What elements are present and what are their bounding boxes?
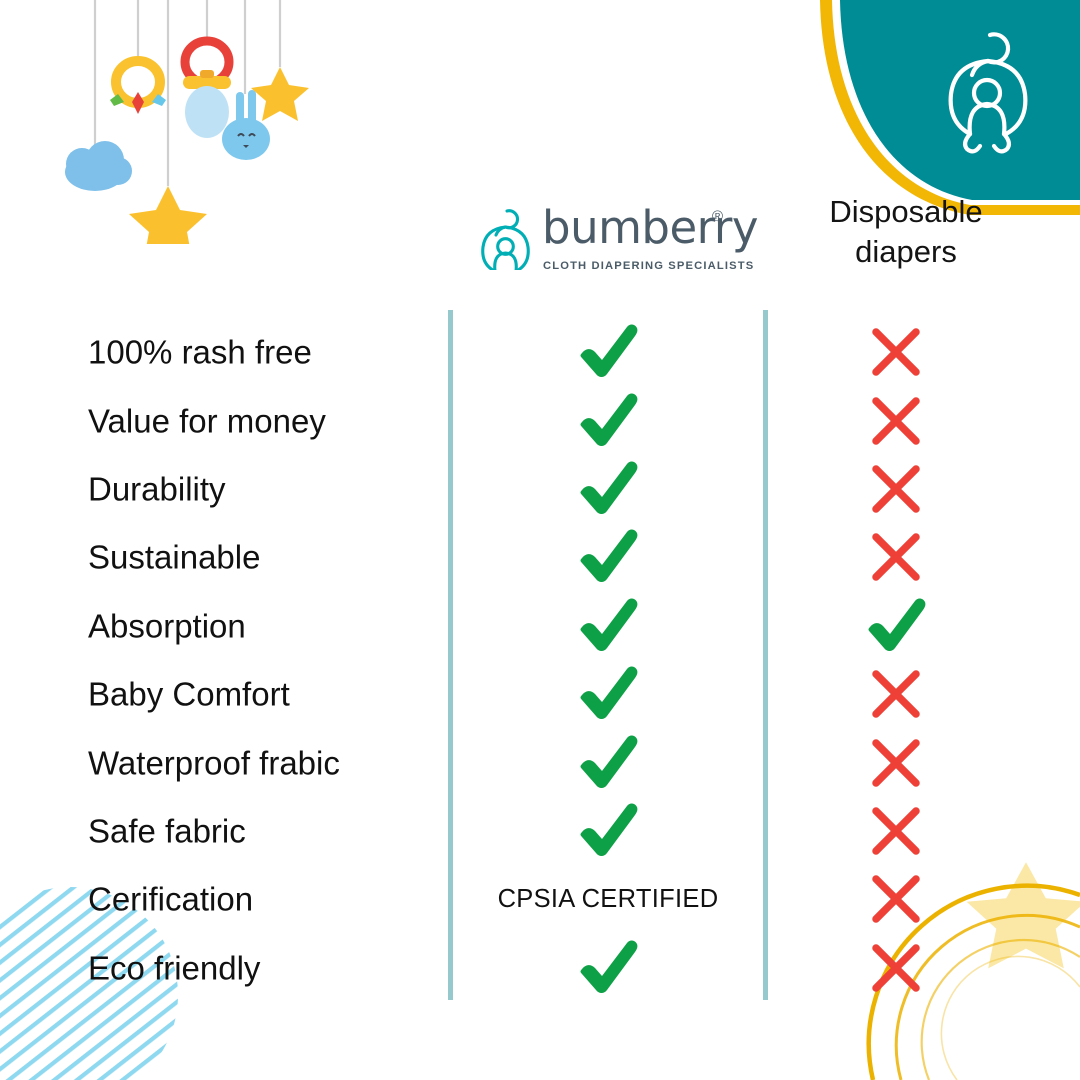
feature-label: Eco friendly — [88, 951, 260, 984]
table-row: Waterproof frabic — [0, 728, 1080, 796]
cross-icon — [768, 322, 1023, 382]
table-row: Eco friendly — [0, 934, 1080, 1002]
check-icon — [453, 938, 763, 998]
feature-label: Baby Comfort — [88, 678, 290, 711]
check-icon — [453, 459, 763, 519]
disposable-diapers-header: Disposable diapers — [790, 192, 1022, 271]
cross-icon — [768, 869, 1023, 929]
check-icon — [453, 322, 763, 382]
pacifier-icon — [183, 41, 231, 138]
check-icon — [768, 596, 1023, 656]
mother-and-baby-icon — [480, 208, 532, 275]
check-icon — [453, 527, 763, 587]
feature-label: Cerification — [88, 883, 253, 916]
cross-icon — [768, 938, 1023, 998]
table-row: Baby Comfort — [0, 660, 1080, 728]
brand-wordmark: bumberry — [542, 205, 758, 250]
cross-icon — [768, 801, 1023, 861]
cross-icon — [768, 733, 1023, 793]
column-headers: bumberry ® CLOTH DIAPERING SPECIALISTS D… — [0, 192, 1080, 302]
feature-label: 100% rash free — [88, 336, 312, 369]
disposable-header-line-1: Disposable — [790, 192, 1022, 232]
cross-icon — [768, 459, 1023, 519]
brand-tagline: CLOTH DIAPERING SPECIALISTS — [543, 260, 754, 272]
feature-label: Absorption — [88, 609, 246, 642]
feature-label: Durability — [88, 472, 226, 505]
rattle-ring-icon — [110, 61, 166, 114]
feature-label: Safe fabric — [88, 814, 246, 847]
table-row: Sustainable — [0, 523, 1080, 591]
bumberry-logo: bumberry ® CLOTH DIAPERING SPECIALISTS — [480, 200, 740, 284]
feature-label: Waterproof frabic — [88, 746, 340, 779]
bumberry-cell-text: CPSIA CERTIFIED — [453, 869, 763, 929]
teal-corner-badge — [820, 0, 1080, 215]
cloud-icon — [65, 141, 132, 191]
bunny-icon — [222, 90, 270, 160]
registered-trademark-symbol: ® — [712, 208, 723, 225]
comparison-infographic: bumberry ® CLOTH DIAPERING SPECIALISTS D… — [0, 0, 1080, 1080]
table-row: 100% rash free — [0, 318, 1080, 386]
table-row: Durability — [0, 455, 1080, 523]
disposable-header-line-2: diapers — [790, 232, 1022, 272]
check-icon — [453, 596, 763, 656]
feature-label: Sustainable — [88, 541, 260, 574]
check-icon — [453, 391, 763, 451]
feature-label: Value for money — [88, 404, 326, 437]
check-icon — [453, 733, 763, 793]
check-icon — [453, 801, 763, 861]
table-row: CerificationCPSIA CERTIFIED — [0, 865, 1080, 933]
cross-icon — [768, 391, 1023, 451]
table-row: Safe fabric — [0, 797, 1080, 865]
table-row: Absorption — [0, 592, 1080, 660]
certification-label: CPSIA CERTIFIED — [498, 885, 719, 914]
check-icon — [453, 664, 763, 724]
comparison-table: 100% rash freeValue for moneyDurabilityS… — [0, 318, 1080, 1002]
cross-icon — [768, 527, 1023, 587]
cross-icon — [768, 664, 1023, 724]
table-row: Value for money — [0, 386, 1080, 454]
mother-and-baby-icon — [951, 34, 1026, 151]
star-icon — [251, 67, 309, 121]
